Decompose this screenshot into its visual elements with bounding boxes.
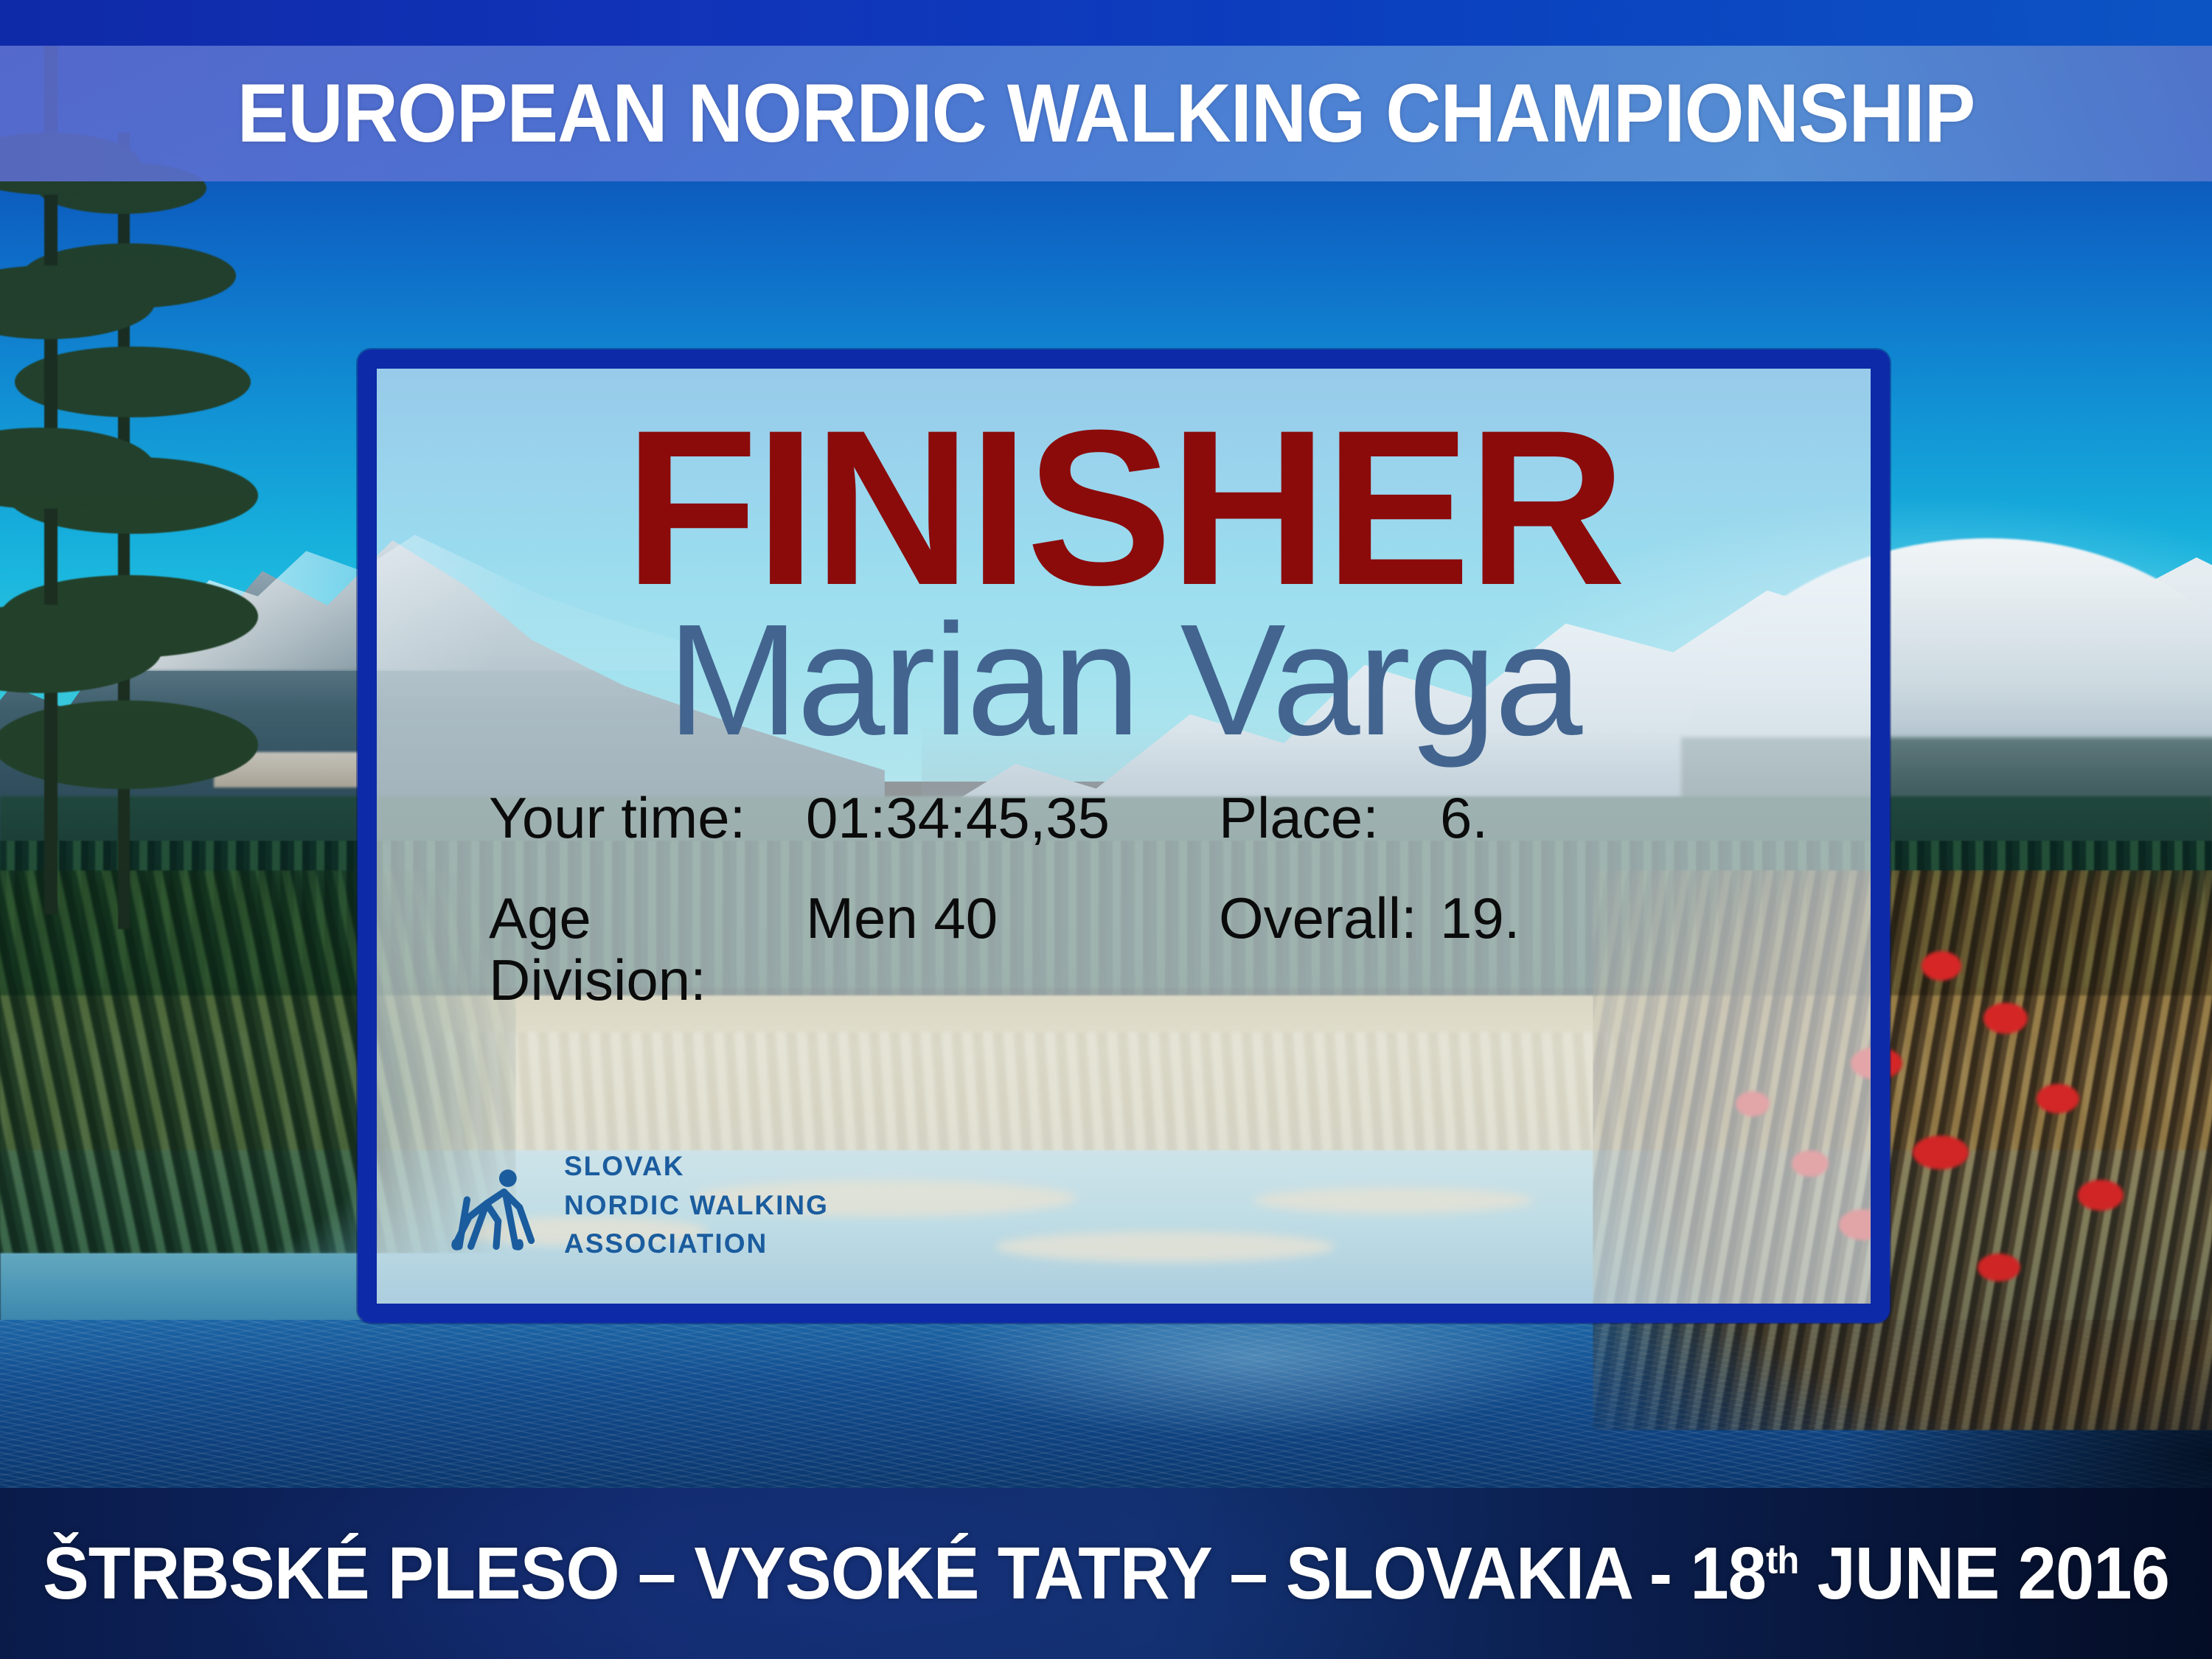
finisher-certificate-page: EUROPEAN NORDIC WALKING CHAMPIONSHIP FIN… — [0, 0, 2212, 1659]
tree-bough — [0, 265, 155, 339]
age-division-label: Age Division: — [489, 887, 806, 1011]
red-berry — [1913, 1135, 1969, 1169]
red-berry — [2037, 1084, 2079, 1113]
time-value: 01:34:45,35 — [806, 787, 1219, 849]
red-berry — [1921, 951, 1961, 981]
award-title: FINISHER — [425, 401, 1823, 613]
certificate-panel: FINISHER Marian Varga Your time: 01:34:4… — [358, 349, 1890, 1323]
header-band: EUROPEAN NORDIC WALKING CHAMPIONSHIP — [0, 46, 2212, 181]
place-label: Place: — [1219, 787, 1440, 849]
red-berry — [2078, 1180, 2124, 1211]
tree-bough — [0, 605, 162, 693]
red-berry — [1978, 1253, 2020, 1281]
result-details: Your time: 01:34:45,35 Place: 6. Age Div… — [489, 787, 1829, 1050]
date-text: JUNE 2016 — [1798, 1532, 2169, 1615]
association-logo: SLOVAK NORDIC WALKING ASSOCIATION — [448, 1147, 829, 1264]
footer-band: ŠTRBSKÉ PLESO – VYSOKÉ TATRY – SLOVAKIA … — [0, 1488, 2212, 1659]
nordic-walker-icon — [448, 1157, 545, 1254]
walker-head — [499, 1169, 517, 1187]
overall-label: Overall: — [1219, 887, 1440, 949]
logo-line-3: ASSOCIATION — [564, 1225, 829, 1264]
time-label: Your time: — [489, 787, 806, 849]
overall-value: 19. — [1440, 887, 1520, 949]
association-name: SLOVAK NORDIC WALKING ASSOCIATION — [564, 1147, 829, 1264]
header-top-edge — [0, 0, 2212, 46]
red-berry — [1983, 1003, 2028, 1034]
ordinal-suffix: th — [1766, 1540, 1798, 1582]
place-value: 6. — [1440, 787, 1488, 849]
logo-line-2: NORDIC WALKING — [564, 1186, 829, 1225]
championship-title: EUROPEAN NORDIC WALKING CHAMPIONSHIP — [77, 72, 2135, 155]
event-location-date: ŠTRBSKÉ PLESO – VYSOKÉ TATRY – SLOVAKIA … — [43, 1537, 2169, 1610]
detail-row-division: Age Division: Men 40 Overall: 19. — [489, 887, 1829, 1011]
certificate-inner: FINISHER Marian Varga Your time: 01:34:4… — [377, 369, 1871, 1304]
location-text: ŠTRBSKÉ PLESO – VYSOKÉ TATRY – SLOVAKIA … — [43, 1532, 1766, 1615]
tree-bough — [0, 428, 155, 509]
age-division-value: Men 40 — [806, 887, 1219, 949]
logo-line-1: SLOVAK — [564, 1147, 829, 1186]
detail-row-time: Your time: 01:34:45,35 Place: 6. — [489, 787, 1829, 849]
